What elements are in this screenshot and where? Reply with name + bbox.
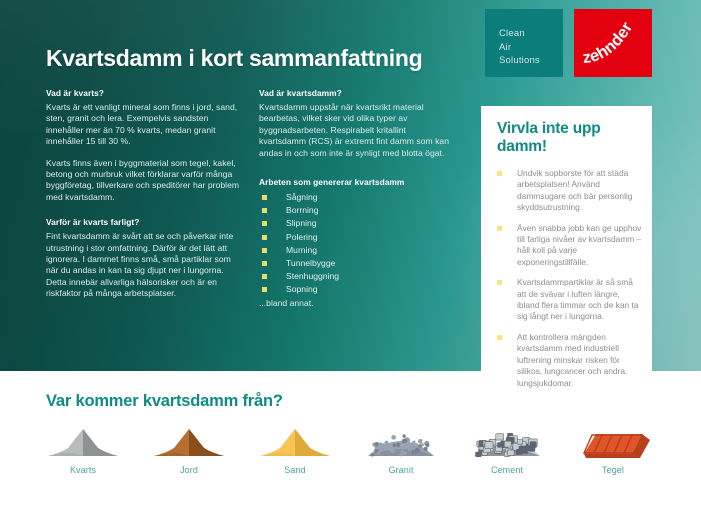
tagline-line-2: Air — [499, 41, 540, 55]
tagline-line-3: Solutions — [499, 54, 540, 68]
bullet-square-icon — [262, 195, 267, 200]
work-activity-label: Polering — [286, 232, 318, 242]
bullet-square-icon — [262, 248, 267, 253]
tips-card-title: Virvla inte upp damm! — [497, 120, 637, 156]
work-activity-label: Sågning — [286, 192, 318, 202]
material-illustration — [464, 420, 550, 460]
material-item: Kvarts — [30, 420, 136, 480]
bullet-square-icon — [497, 226, 502, 231]
tip-item: Även snabba jobb kan ge upphov till farl… — [497, 223, 643, 269]
work-activity-label: Tunnelbygge — [286, 258, 335, 268]
pile-quartz-icon — [40, 420, 126, 460]
poster-root: Clean Air Solutions zehnder Kvartsdamm i… — [0, 0, 701, 519]
material-item: Granit — [348, 420, 454, 480]
bullet-square-icon — [262, 261, 267, 266]
pile-brick-icon — [570, 420, 656, 460]
materials-row: KvartsJordSandGranitCementTegel — [30, 420, 670, 480]
svg-text:zehnder: zehnder — [582, 19, 637, 67]
bullet-square-icon — [262, 274, 267, 279]
left-paragraph-3: Fint kvartsdamm är svårt att se och påve… — [46, 231, 242, 299]
tips-list: Undvik sopborste för att städa arbetspla… — [497, 168, 643, 398]
material-label: Tegel — [602, 465, 624, 475]
work-activity-label: Murning — [286, 245, 317, 255]
tip-text: Undvik sopborste för att städa arbetspla… — [517, 168, 632, 212]
hero-middle-column: Vad är kvartsdamm? Kvartsdamm uppstår nä… — [259, 88, 455, 308]
work-activity-label: Slipning — [286, 218, 317, 228]
material-label: Jord — [180, 465, 198, 475]
tagline-line-1: Clean — [499, 27, 540, 41]
bullet-square-icon — [497, 280, 502, 285]
tip-item: Undvik sopborste för att städa arbetspla… — [497, 168, 643, 214]
material-item: Jord — [136, 420, 242, 480]
material-item: Tegel — [560, 420, 666, 480]
work-activity-label: Sopning — [286, 284, 318, 294]
material-illustration — [40, 420, 126, 460]
tip-item: Kvartsdammpartiklar är så små att de svä… — [497, 277, 643, 323]
bullet-square-icon — [262, 221, 267, 226]
zehnder-wordmark-icon: zehnder — [574, 9, 652, 77]
material-label: Cement — [491, 465, 523, 475]
material-label: Sand — [284, 465, 305, 475]
material-illustration — [358, 420, 444, 460]
hero-left-column: Vad är kvarts? Kvarts är ett vanligt min… — [46, 88, 242, 310]
work-activity-item: Tunnelbygge — [259, 257, 455, 270]
clean-air-solutions-text: Clean Air Solutions — [499, 27, 540, 68]
bullet-square-icon — [497, 335, 502, 340]
left-paragraph-2: Kvarts finns även i byggmaterial som teg… — [46, 158, 242, 204]
tip-text: Att kontrollera mängden kvartsdamm med i… — [517, 332, 627, 388]
left-paragraph-1: Kvarts är ett vanligt mineral som finns … — [46, 102, 242, 148]
pile-soil-icon — [146, 420, 232, 460]
work-activity-item: Murning — [259, 244, 455, 257]
work-activity-item: Sopning — [259, 283, 455, 296]
pile-sand-icon — [252, 420, 338, 460]
pile-granite-icon — [358, 420, 444, 460]
material-label: Granit — [388, 465, 413, 475]
bullet-square-icon — [262, 287, 267, 292]
tips-card: Virvla inte upp damm! Undvik sopborste f… — [481, 106, 652, 392]
work-activity-label: Stenhuggning — [286, 271, 339, 281]
work-activity-item: Sågning — [259, 191, 455, 204]
pile-cement-icon — [464, 420, 550, 460]
tip-item: Att kontrollera mängden kvartsdamm med i… — [497, 332, 643, 389]
mid-paragraph-1: Kvartsdamm uppstår när kvartsrikt materi… — [259, 102, 455, 159]
zehnder-logo[interactable]: zehnder — [574, 9, 652, 77]
bullet-square-icon — [262, 208, 267, 213]
material-illustration — [252, 420, 338, 460]
material-illustration — [146, 420, 232, 460]
material-item: Sand — [242, 420, 348, 480]
left-heading-2: Varför är kvarts farligt? — [46, 217, 242, 227]
bullet-square-icon — [497, 171, 502, 176]
work-footnote: ...bland annat. — [259, 298, 455, 308]
sources-section-title: Var kommer kvartsdamm från? — [46, 392, 283, 411]
material-item: Cement — [454, 420, 560, 480]
tip-text: Kvartsdammpartiklar är så små att de svä… — [517, 277, 639, 321]
clean-air-solutions-box: Clean Air Solutions — [485, 9, 563, 77]
tip-text: Även snabba jobb kan ge upphov till farl… — [517, 223, 641, 267]
work-activity-item: Borrning — [259, 204, 455, 217]
work-activity-label: Borrning — [286, 205, 318, 215]
work-activities-list: SågningBorrningSlipningPoleringMurningTu… — [259, 191, 455, 297]
work-activity-item: Slipning — [259, 217, 455, 230]
material-illustration — [570, 420, 656, 460]
material-label: Kvarts — [70, 465, 96, 475]
page-title: Kvartsdamm i kort sammanfattning — [46, 45, 422, 72]
work-activity-item: Polering — [259, 231, 455, 244]
mid-heading-1: Vad är kvartsdamm? — [259, 88, 455, 98]
mid-heading-2: Arbeten som genererar kvartsdamm — [259, 177, 455, 187]
work-activity-item: Stenhuggning — [259, 270, 455, 283]
left-heading-1: Vad är kvarts? — [46, 88, 242, 98]
bullet-square-icon — [262, 235, 267, 240]
